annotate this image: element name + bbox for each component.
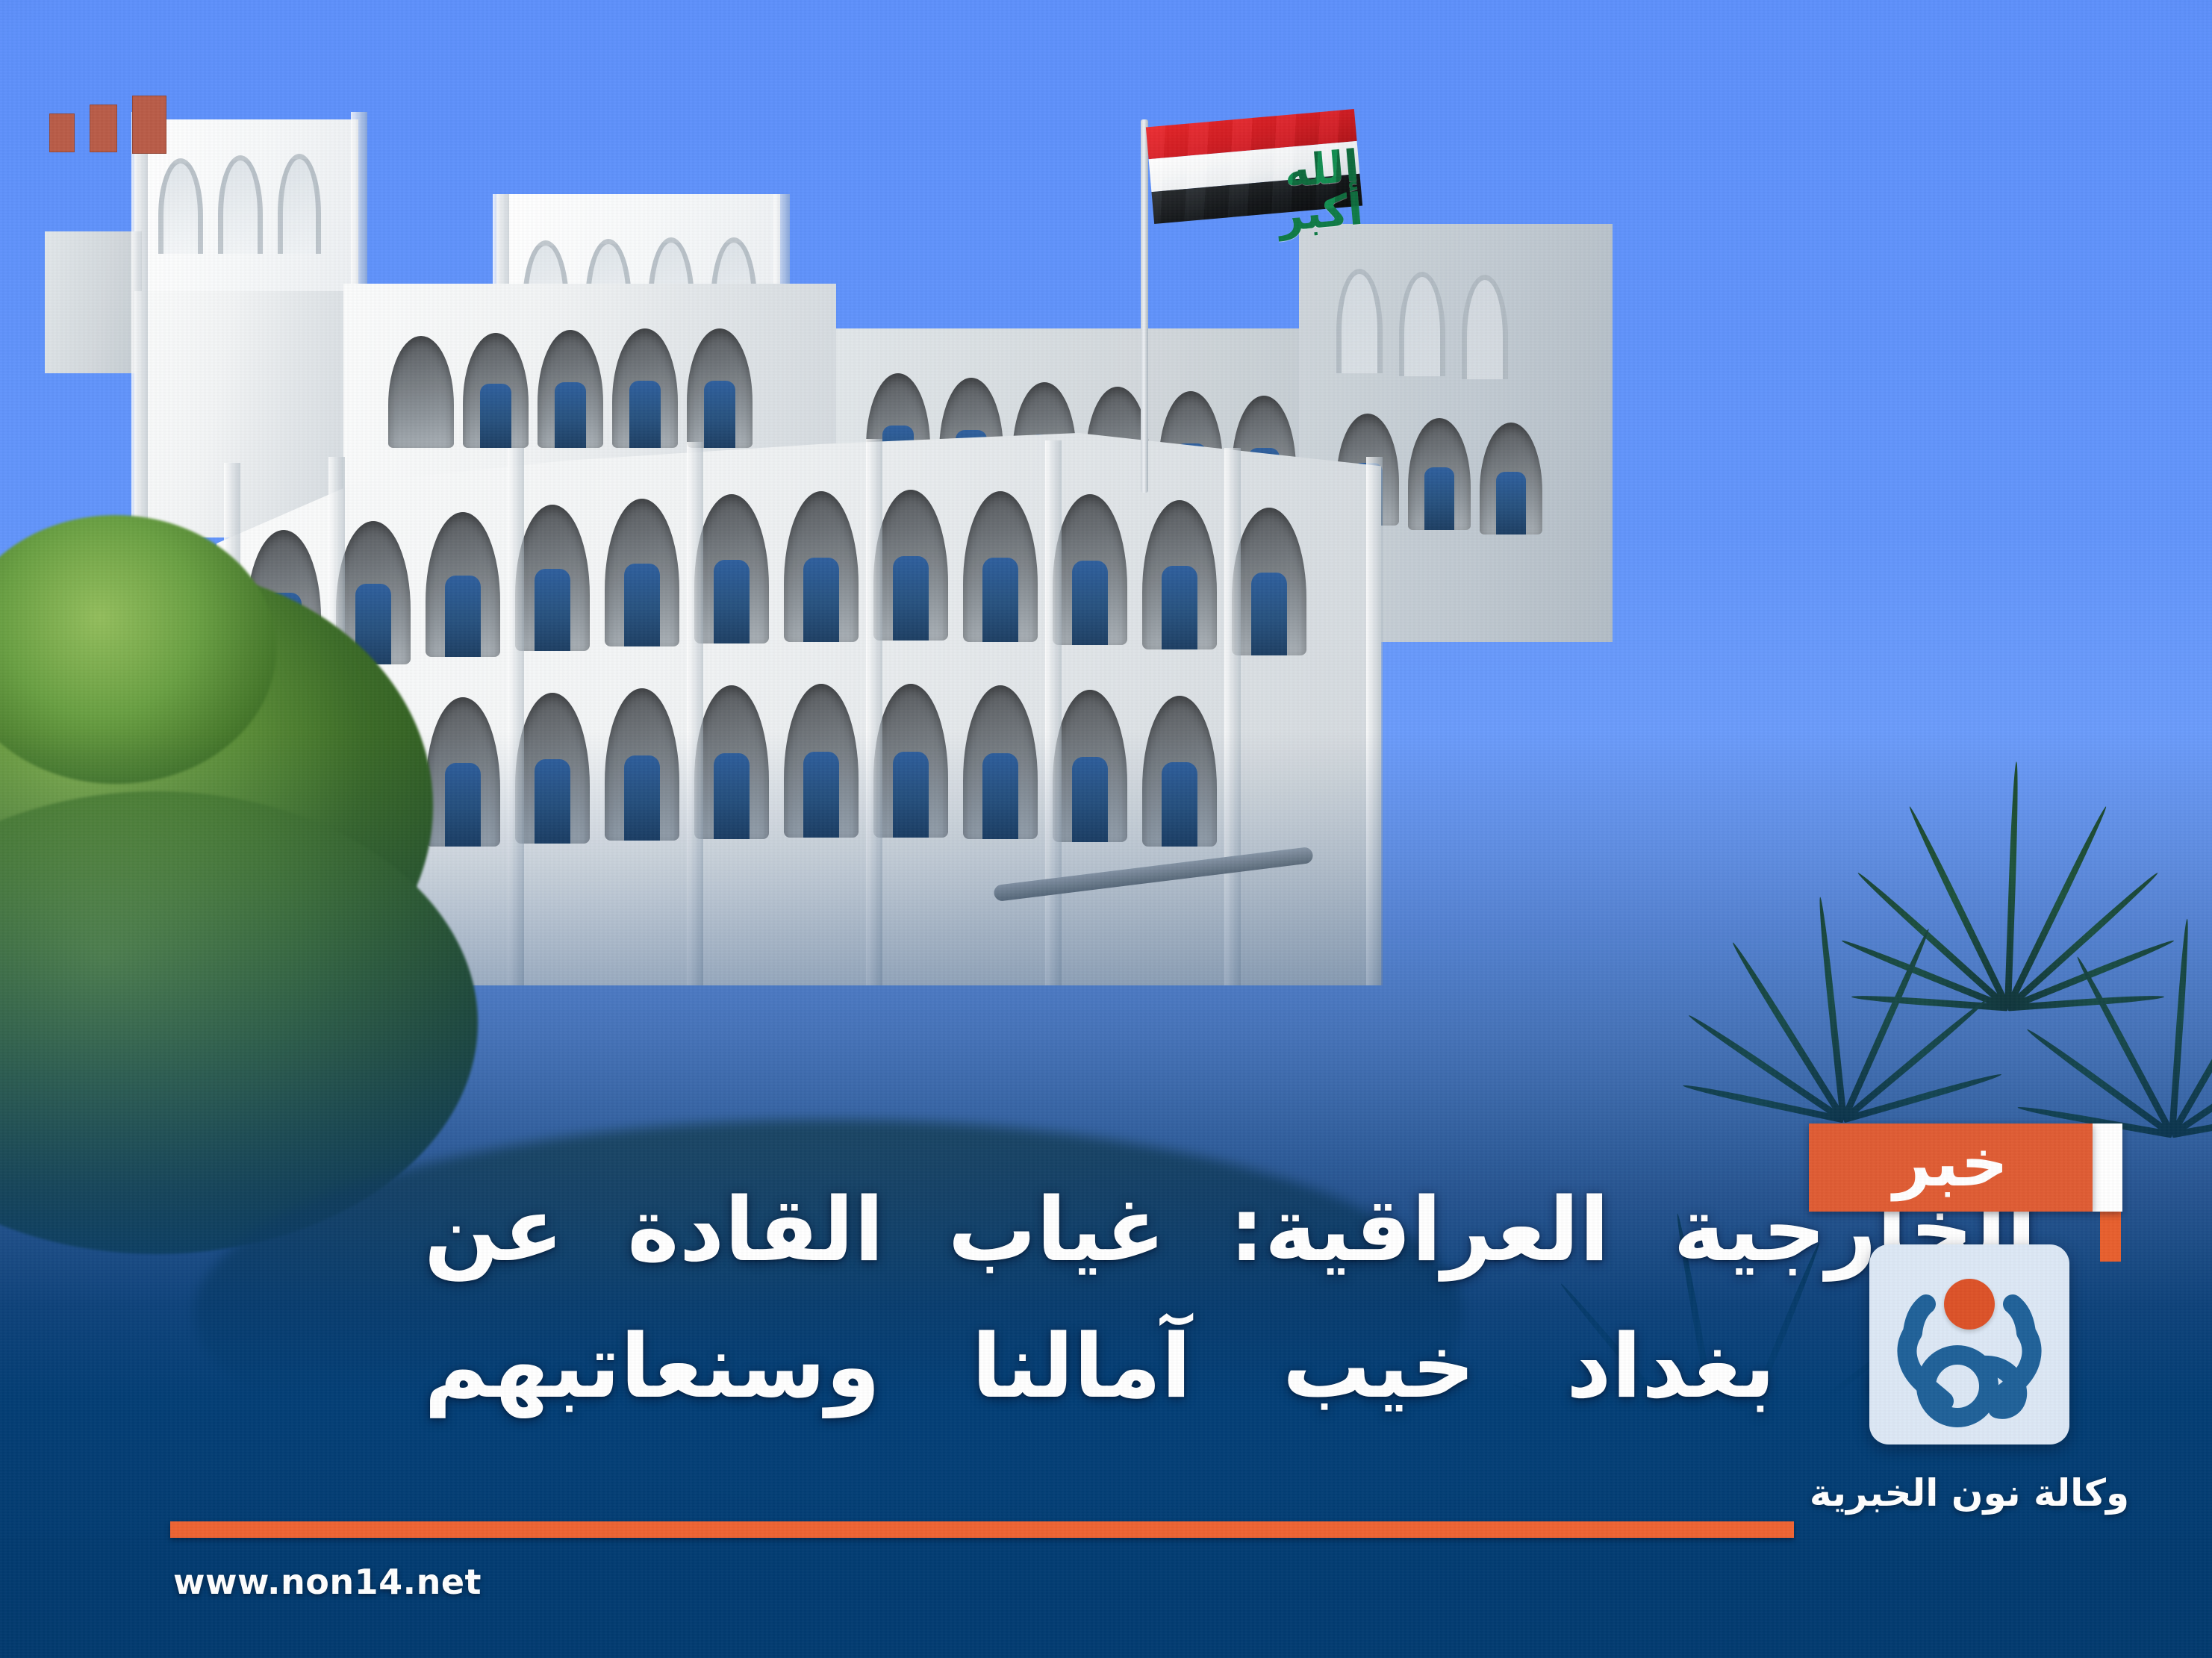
headline-line-2: قمة بغداد خيب آمالنا وسنعاتبهم xyxy=(424,1298,2037,1435)
agency-name: وكالة نون الخبرية xyxy=(1809,1471,2130,1515)
orange-divider xyxy=(170,1521,1794,1538)
brand-bar-1 xyxy=(132,96,166,154)
news-badge-chip: خبر xyxy=(1809,1123,2093,1212)
brand-bars-decoration xyxy=(49,96,166,154)
news-badge: خبر xyxy=(1809,1123,2122,1212)
headline: الخارجية العراقية: غياب القادة عن قمة بغ… xyxy=(424,1162,2037,1435)
website-url[interactable]: www.non14.net xyxy=(173,1562,482,1602)
news-card: الله أكبر xyxy=(0,0,2212,1658)
brand-bar-3 xyxy=(49,113,75,152)
news-badge-white-tab xyxy=(2093,1123,2122,1212)
agency-logo[interactable] xyxy=(1869,1244,2069,1444)
brand-bar-2 xyxy=(90,105,117,152)
news-badge-label: خبر xyxy=(1893,1130,2008,1205)
brand-block: خبر وكالة نون الخبرية xyxy=(1809,1123,2130,1515)
logo-noon-glyph-icon xyxy=(1869,1244,2069,1444)
headline-line-1: الخارجية العراقية: غياب القادة عن xyxy=(424,1162,2037,1298)
